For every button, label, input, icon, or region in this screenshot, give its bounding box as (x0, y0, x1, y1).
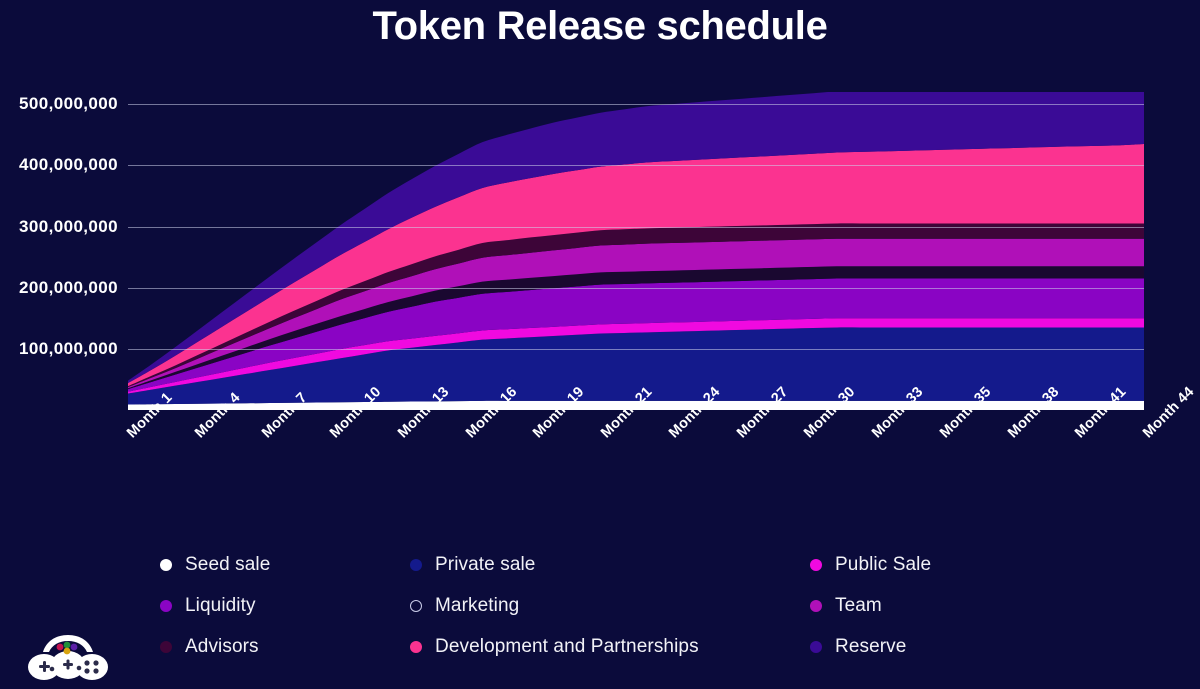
legend-item[interactable]: Liquidity (160, 595, 410, 617)
legend-item-label: Seed sale (185, 554, 270, 576)
legend-swatch-icon (410, 600, 422, 612)
legend-swatch-icon (410, 559, 422, 571)
legend-item-label: Liquidity (185, 595, 256, 617)
legend-item[interactable]: Seed sale (160, 554, 410, 576)
y-axis-tick-label: 100,000,000 (19, 339, 118, 359)
legend-item[interactable]: Development and Partnerships (410, 636, 810, 658)
plot-area (128, 92, 1144, 410)
legend-item[interactable]: Reserve (810, 636, 1160, 658)
legend-swatch-icon (810, 641, 822, 653)
page-title: Token Release schedule (0, 4, 1200, 49)
legend-swatch-icon (160, 600, 172, 612)
legend-item[interactable]: Public Sale (810, 554, 1160, 576)
stacked-area-svg (128, 92, 1144, 410)
y-axis-tick-label: 500,000,000 (19, 94, 118, 114)
legend-item-label: Advisors (185, 636, 259, 658)
y-axis-tick-label: 400,000,000 (19, 155, 118, 175)
token-release-chart: Token Release schedule 500,000,000400,00… (0, 0, 1200, 689)
x-axis-tick-label: Month 44 (1140, 384, 1197, 441)
gamepad-logo (26, 625, 110, 683)
legend-item-label: Development and Partnerships (435, 636, 699, 658)
legend-item[interactable]: Private sale (410, 554, 810, 576)
y-axis-tick-label: 200,000,000 (19, 278, 118, 298)
legend-item-label: Public Sale (835, 554, 931, 576)
legend-item[interactable]: Team (810, 595, 1160, 617)
legend-swatch-icon (810, 559, 822, 571)
legend-item[interactable]: Marketing (410, 595, 810, 617)
legend-item-label: Marketing (435, 595, 519, 617)
legend-swatch-icon (160, 641, 172, 653)
legend-swatch-icon (160, 559, 172, 571)
legend-swatch-icon (410, 641, 422, 653)
legend-item-label: Reserve (835, 636, 906, 658)
legend-item[interactable]: Advisors (160, 636, 410, 658)
legend-item-label: Private sale (435, 554, 535, 576)
x-axis: Month 1Month 4Month 7Month 10Month 13Mon… (0, 412, 1200, 492)
legend-item-label: Team (835, 595, 882, 617)
legend-swatch-icon (810, 600, 822, 612)
legend: Seed salePrivate salePublic SaleLiquidit… (160, 544, 1160, 667)
y-axis-tick-label: 300,000,000 (19, 217, 118, 237)
